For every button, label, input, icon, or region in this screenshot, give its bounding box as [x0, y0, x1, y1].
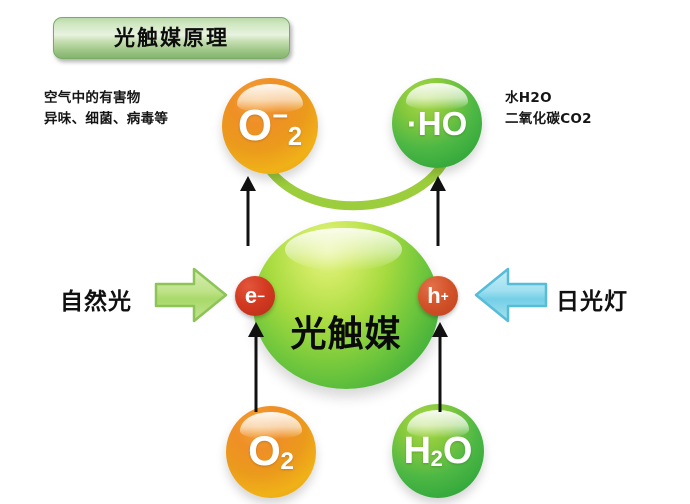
- arrow-lamp-light-icon: [472, 262, 550, 328]
- diagram-canvas: 光触媒原理 空气中的有害物 异味、细菌、病毒等 水H2O 二氧化碳CO2 O−2…: [0, 0, 690, 504]
- sphere-gloss-icon: [285, 228, 402, 272]
- label-fluorescent-lamp: 日光灯: [556, 282, 628, 316]
- arrow-natural-light-icon: [152, 262, 230, 328]
- sphere-hydroxyl: ·HO: [392, 78, 482, 168]
- caption-pollutants: 空气中的有害物 异味、细菌、病毒等: [44, 88, 168, 130]
- label-natural-light: 自然光: [60, 282, 132, 316]
- sphere-oxygen-label: O2: [248, 430, 294, 475]
- sphere-superoxide: O−2: [222, 78, 318, 174]
- arrow-shaft: [247, 188, 250, 246]
- sphere-water: H2O: [392, 404, 484, 498]
- hole-badge: h+: [418, 276, 458, 316]
- arrow-up-to-hydroxyl-icon: [430, 176, 446, 246]
- caption-byproducts: 水H2O 二氧化碳CO2: [505, 88, 592, 130]
- page-title: 光触媒原理: [114, 28, 229, 49]
- sphere-hydroxyl-label: ·HO: [407, 107, 468, 140]
- sphere-superoxide-label: O−2: [238, 102, 302, 150]
- title-banner: 光触媒原理: [53, 17, 290, 59]
- photocatalyst-label: 光触媒: [253, 305, 439, 357]
- arrow-shaft: [437, 188, 440, 246]
- sphere-oxygen: O2: [226, 406, 316, 498]
- sphere-water-label: H2O: [404, 432, 473, 471]
- electron-badge: e−: [235, 276, 275, 316]
- arrow-up-to-superoxide-icon: [240, 176, 256, 246]
